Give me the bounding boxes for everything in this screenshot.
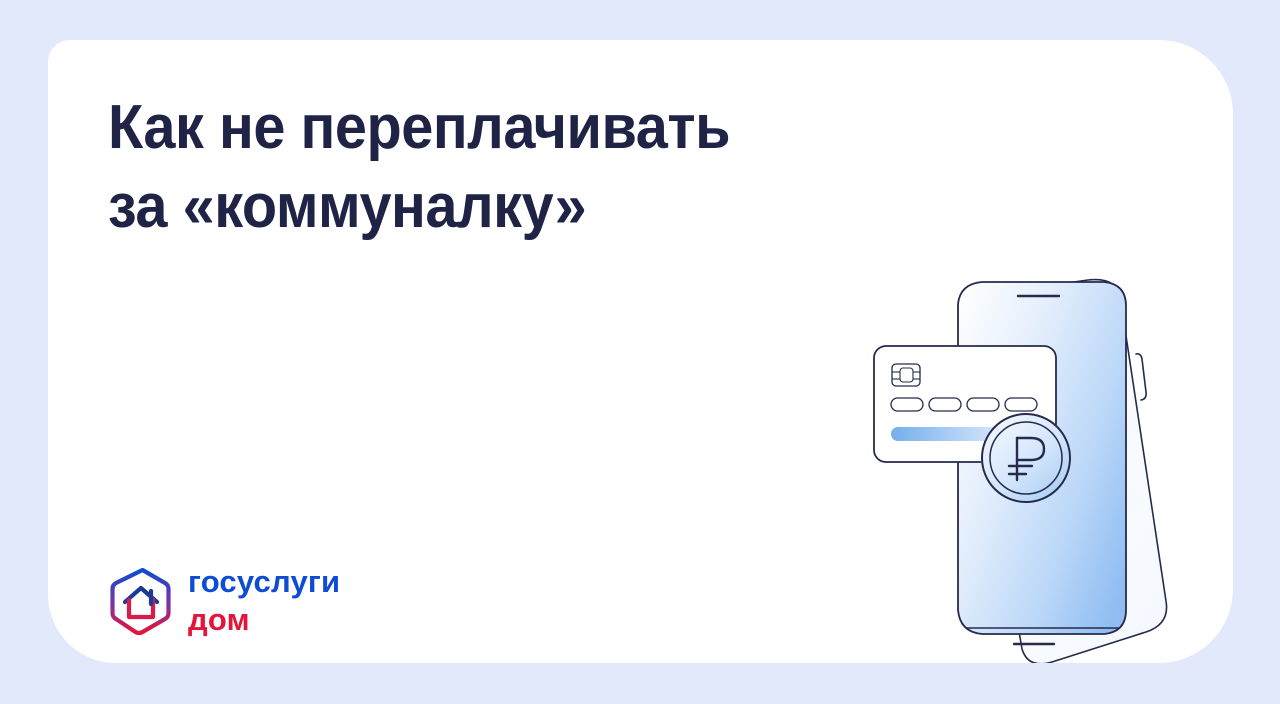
poster-canvas: Как не переплачивать за «коммуналку»	[0, 0, 1280, 704]
logo-word-dom: дом	[188, 604, 340, 635]
headline-line-2: за «коммуналку»	[108, 167, 759, 246]
ruble-coin	[981, 413, 1071, 503]
page-title: Как не переплачивать за «коммуналку»	[108, 88, 759, 247]
white-content-card: Как не переплачивать за «коммуналку»	[48, 40, 1233, 663]
card-chip-icon	[892, 364, 920, 386]
gosuslugi-dom-logo[interactable]: госуслуги дом	[110, 566, 340, 635]
gosuslugi-dom-house-hexagon-logo-icon	[110, 567, 172, 635]
logo-wordmark: госуслуги дом	[188, 566, 340, 635]
phone-side-button	[1136, 354, 1146, 400]
phone-card-ruble-coin-illustration	[854, 232, 1194, 652]
logo-word-gosuslugi: госуслуги	[188, 566, 340, 597]
headline-line-1: Как не переплачивать	[108, 88, 759, 167]
